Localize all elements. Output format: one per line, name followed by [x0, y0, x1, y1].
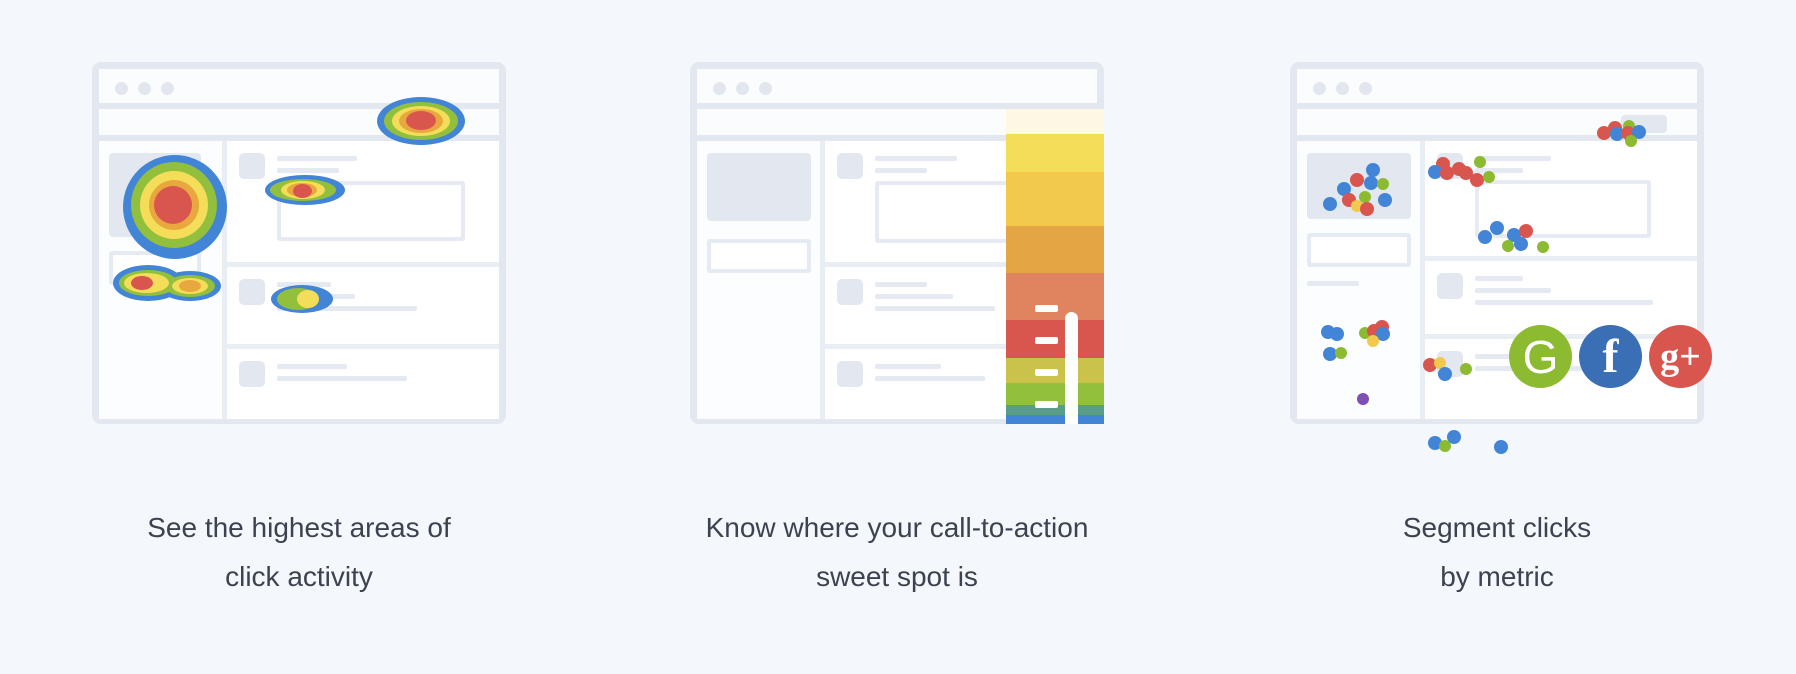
gradient-band-gold [1006, 172, 1104, 226]
caption-thermometer: Know where your call-to-action sweet spo… [598, 503, 1196, 601]
list-item-media-box [277, 181, 465, 241]
text-line [1475, 168, 1523, 173]
list-item-text-block [1475, 153, 1687, 246]
browser-chrome-bar [697, 69, 1097, 109]
gradient-band-yellow [1006, 134, 1104, 172]
sidebar-hero-block [1307, 153, 1411, 219]
list-item-text-block [1475, 273, 1687, 324]
window-dot-maximize-icon [161, 82, 174, 95]
window-dot-maximize-icon [759, 82, 772, 95]
text-line [1475, 288, 1551, 293]
caption-heatmap: See the highest areas of click activity [0, 503, 598, 601]
list-item-thumbnail [239, 279, 265, 305]
text-line [1475, 156, 1551, 161]
window-dot-minimize-icon [1336, 82, 1349, 95]
feature-card-segment: G f g+ Segment clicks by metric [1198, 0, 1796, 674]
facebook-icon-glyph: f [1603, 329, 1619, 384]
list-item-thumbnail [1437, 351, 1463, 377]
scatter-dot-green [1439, 440, 1451, 452]
scatter-dot-blue [1428, 436, 1442, 450]
sidebar-secondary-box [1307, 233, 1411, 267]
text-line [277, 168, 339, 173]
sidebar [1297, 141, 1425, 419]
sidebar-hero-block [707, 153, 811, 221]
list-item[interactable] [1425, 141, 1697, 261]
text-line [277, 376, 407, 381]
browser-mock-segment: G f g+ [1290, 62, 1704, 424]
google-icon-glyph: G [1523, 330, 1559, 384]
thermo-tick [1035, 337, 1058, 344]
gradient-band-blue [1006, 415, 1104, 424]
list-item-text-block [277, 153, 489, 252]
list-item-thumbnail [239, 361, 265, 387]
gradient-band-salmon [1006, 273, 1104, 320]
list-item[interactable] [1425, 261, 1697, 339]
thermo-tick [1035, 401, 1058, 408]
list-item-thumbnail [837, 279, 863, 305]
sidebar-secondary-box [109, 251, 201, 285]
thermo-tick [1035, 305, 1058, 312]
feature-card-heatmap: See the highest areas of click activity [0, 0, 598, 674]
gradient-band-cream [1006, 109, 1104, 134]
content-column [227, 141, 499, 419]
window-control-dots [713, 82, 772, 95]
text-line [875, 168, 927, 173]
feature-card-thermometer: Know where your call-to-action sweet spo… [598, 0, 1196, 674]
sidebar [697, 141, 825, 419]
text-line [875, 364, 941, 369]
list-item-text-block [277, 361, 489, 409]
text-line [875, 306, 995, 311]
list-item-media-box [1475, 180, 1651, 238]
thermo-tick [1035, 369, 1058, 376]
text-line [277, 156, 357, 161]
gradient-band-orange [1006, 226, 1104, 273]
browser-address-bar[interactable] [1297, 109, 1697, 141]
browser-chrome-bar [99, 69, 499, 109]
google-plus-icon-glyph: g+ [1660, 335, 1701, 379]
window-control-dots [1313, 82, 1372, 95]
text-line [1475, 276, 1523, 281]
scatter-dot-blue [1447, 430, 1461, 444]
caption-segment: Segment clicks by metric [1198, 503, 1796, 601]
window-dot-close-icon [713, 82, 726, 95]
sidebar [99, 141, 227, 419]
scatter-dot-blue [1494, 440, 1508, 454]
text-line [875, 376, 985, 381]
list-item-thumbnail [239, 153, 265, 179]
google-icon[interactable]: G [1509, 325, 1572, 388]
sidebar-secondary-box [707, 239, 811, 273]
facebook-icon[interactable]: f [1579, 325, 1642, 388]
browser-mock-thermometer [690, 62, 1104, 424]
page-body [99, 141, 499, 419]
list-item-thumbnail [837, 361, 863, 387]
address-bar-field[interactable] [1621, 115, 1667, 133]
sidebar-hero-block [109, 153, 201, 237]
thermometer-indicator [1065, 312, 1078, 424]
browser-mock-heatmap [92, 62, 506, 424]
list-item-thumbnail [1437, 273, 1463, 299]
text-line [875, 156, 957, 161]
list-item-thumbnail [837, 153, 863, 179]
text-line [875, 294, 953, 299]
list-item-text-block [277, 279, 489, 334]
intensity-gradient-bar [1006, 109, 1104, 424]
list-item[interactable] [227, 141, 499, 267]
text-line [277, 282, 331, 287]
list-item-thumbnail [1437, 153, 1463, 179]
browser-address-bar[interactable] [99, 109, 499, 141]
page-body [1297, 141, 1697, 419]
text-line [1475, 300, 1653, 305]
window-dot-minimize-icon [138, 82, 151, 95]
text-line [277, 294, 355, 299]
browser-chrome-bar [1297, 69, 1697, 109]
window-dot-maximize-icon [1359, 82, 1372, 95]
google-plus-icon[interactable]: g+ [1649, 325, 1712, 388]
gradient-scale-overlay [1001, 109, 1104, 424]
feature-trio-stage: See the highest areas of click activity [0, 0, 1796, 674]
text-line [277, 306, 417, 311]
window-dot-close-icon [115, 82, 128, 95]
window-control-dots [115, 82, 174, 95]
window-dot-minimize-icon [736, 82, 749, 95]
text-line [875, 282, 927, 287]
window-dot-close-icon [1313, 82, 1326, 95]
list-item[interactable] [227, 267, 499, 349]
list-item[interactable] [227, 349, 499, 419]
text-line [277, 364, 347, 369]
text-line [1307, 281, 1359, 286]
